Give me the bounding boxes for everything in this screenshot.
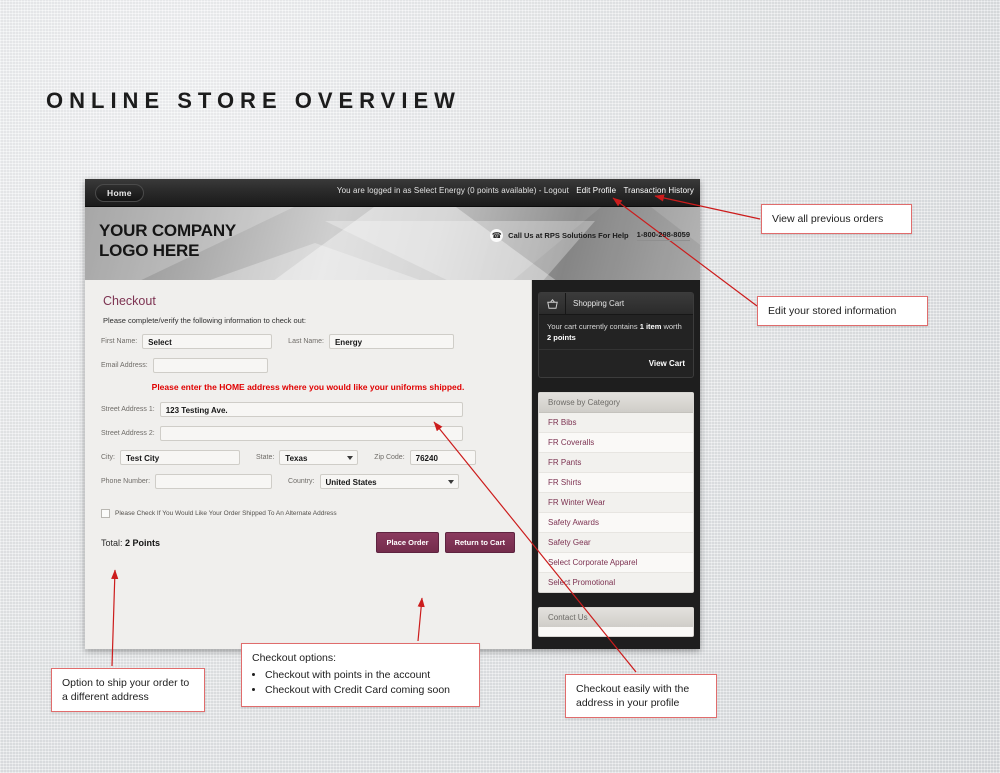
view-cart-link[interactable]: View Cart	[649, 359, 685, 368]
email-label: Email Address:	[101, 362, 148, 369]
state-select[interactable]: Texas	[279, 450, 358, 465]
category-item-safety-awards[interactable]: Safety Awards	[539, 513, 693, 533]
email-input[interactable]	[153, 358, 268, 373]
logo-line-1: YOUR COMPANY	[99, 221, 236, 241]
checkout-option-credit-card: Checkout with Credit Card coming soon	[265, 683, 469, 697]
country-label: Country:	[288, 478, 314, 485]
country-select[interactable]: United States	[320, 474, 459, 489]
shopping-cart-widget: Shopping Cart Your cart currently contai…	[538, 292, 694, 378]
callout-checkout-options-list: Checkout with points in the account Chec…	[252, 668, 469, 697]
state-label: State:	[256, 454, 274, 461]
category-item-fr-winter-wear[interactable]: FR Winter Wear	[539, 493, 693, 513]
alternate-address-label: Please Check If You Would Like Your Orde…	[115, 510, 337, 517]
login-status-text: You are logged in as Select Energy (0 po…	[337, 186, 569, 195]
last-name-label: Last Name:	[288, 338, 324, 345]
page-title: ONLINE STORE OVERVIEW	[46, 88, 461, 114]
shopping-cart-header: Shopping Cart	[539, 293, 693, 315]
logo-line-2: LOGO HERE	[99, 241, 236, 261]
return-to-cart-button[interactable]: Return to Cart	[445, 532, 515, 553]
city-label: City:	[101, 454, 115, 461]
street-address-2-input[interactable]	[160, 426, 463, 441]
checkout-form-panel: Checkout Please complete/verify the foll…	[85, 280, 532, 649]
street2-row: Street Address 2:	[101, 426, 515, 441]
site-masthead: YOUR COMPANY LOGO HERE ☎ Call Us at RPS …	[85, 207, 700, 280]
shopping-cart-footer: View Cart	[539, 349, 693, 377]
city-state-zip-row: City: Test City State: Texas Zip Code: 7…	[101, 450, 515, 465]
checkout-action-buttons: Place Order Return to Cart	[376, 532, 515, 553]
contact-us-widget[interactable]: Contact Us	[538, 607, 694, 637]
top-navigation-bar: Home You are logged in as Select Energy …	[85, 179, 700, 207]
category-item-fr-shirts[interactable]: FR Shirts	[539, 473, 693, 493]
company-logo-placeholder: YOUR COMPANY LOGO HERE	[99, 221, 236, 261]
total-label: Total:	[101, 538, 123, 548]
city-input[interactable]: Test City	[120, 450, 240, 465]
checkout-heading: Checkout	[103, 294, 515, 308]
category-item-select-corporate-apparel[interactable]: Select Corporate Apparel	[539, 553, 693, 573]
callout-edit-profile: Edit your stored information	[757, 296, 928, 326]
category-item-safety-gear[interactable]: Safety Gear	[539, 533, 693, 553]
callout-profile-address: Checkout easily with the address in your…	[565, 674, 717, 718]
cart-item-count: 1 item	[640, 322, 662, 331]
checkout-intro-text: Please complete/verify the following inf…	[103, 316, 515, 325]
phone-number-input[interactable]	[155, 474, 272, 489]
phone-number-label: Phone Number:	[101, 478, 150, 485]
zip-code-label: Zip Code:	[374, 454, 404, 461]
help-text: Call Us at RPS Solutions For Help	[508, 231, 628, 240]
phone-icon: ☎	[490, 229, 503, 242]
category-item-fr-coveralls[interactable]: FR Coveralls	[539, 433, 693, 453]
category-item-fr-pants[interactable]: FR Pants	[539, 453, 693, 473]
basket-icon	[539, 293, 566, 314]
order-total: Total: 2 Points	[101, 538, 160, 548]
home-address-alert: Please enter the HOME address where you …	[101, 382, 515, 392]
email-row: Email Address:	[101, 358, 515, 373]
street-address-1-input[interactable]: 123 Testing Ave.	[160, 402, 463, 417]
cart-points: 2 points	[547, 333, 576, 342]
cart-body-middle: worth	[661, 322, 681, 331]
home-tab[interactable]: Home	[95, 184, 144, 202]
alternate-address-row[interactable]: Please Check If You Would Like Your Orde…	[101, 509, 515, 518]
category-navigation: Browse by Category FR Bibs FR Coveralls …	[538, 392, 694, 593]
place-order-button[interactable]: Place Order	[376, 532, 438, 553]
edit-profile-link[interactable]: Edit Profile	[576, 186, 616, 195]
shopping-cart-summary: Your cart currently contains 1 item wort…	[539, 315, 693, 349]
total-value: 2 Points	[125, 538, 160, 548]
app-body: Checkout Please complete/verify the foll…	[85, 280, 700, 649]
name-row: First Name: Select Last Name: Energy	[101, 334, 515, 349]
total-and-actions-row: Total: 2 Points Place Order Return to Ca…	[101, 532, 515, 553]
shopping-cart-title: Shopping Cart	[566, 299, 624, 308]
help-phone-number[interactable]: 1-800-298-8059	[637, 230, 690, 241]
help-contact-block: ☎ Call Us at RPS Solutions For Help 1-80…	[490, 229, 690, 242]
last-name-input[interactable]: Energy	[329, 334, 454, 349]
contact-us-body	[539, 627, 693, 636]
phone-country-row: Phone Number: Country: United States	[101, 474, 515, 489]
category-item-fr-bibs[interactable]: FR Bibs	[539, 413, 693, 433]
callout-checkout-options-title: Checkout options:	[252, 651, 469, 665]
street-address-1-label: Street Address 1:	[101, 406, 155, 413]
street1-row: Street Address 1: 123 Testing Ave.	[101, 402, 515, 417]
contact-us-header: Contact Us	[539, 608, 693, 627]
right-sidebar: Shopping Cart Your cart currently contai…	[532, 280, 700, 649]
alternate-address-checkbox[interactable]	[101, 509, 110, 518]
app-window: Home You are logged in as Select Energy …	[85, 179, 700, 649]
callout-checkout-options: Checkout options: Checkout with points i…	[241, 643, 480, 707]
street-address-2-label: Street Address 2:	[101, 430, 155, 437]
category-header: Browse by Category	[539, 393, 693, 413]
checkout-option-points: Checkout with points in the account	[265, 668, 469, 682]
transaction-history-link[interactable]: Transaction History	[623, 186, 694, 195]
category-item-select-promotional[interactable]: Select Promotional	[539, 573, 693, 592]
callout-previous-orders: View all previous orders	[761, 204, 912, 234]
callout-alternate-address: Option to ship your order to a different…	[51, 668, 205, 712]
first-name-label: First Name:	[101, 338, 137, 345]
first-name-input[interactable]: Select	[142, 334, 272, 349]
account-status-bar: You are logged in as Select Energy (0 po…	[337, 186, 694, 195]
cart-body-prefix: Your cart currently contains	[547, 322, 640, 331]
zip-code-input[interactable]: 76240	[410, 450, 476, 465]
